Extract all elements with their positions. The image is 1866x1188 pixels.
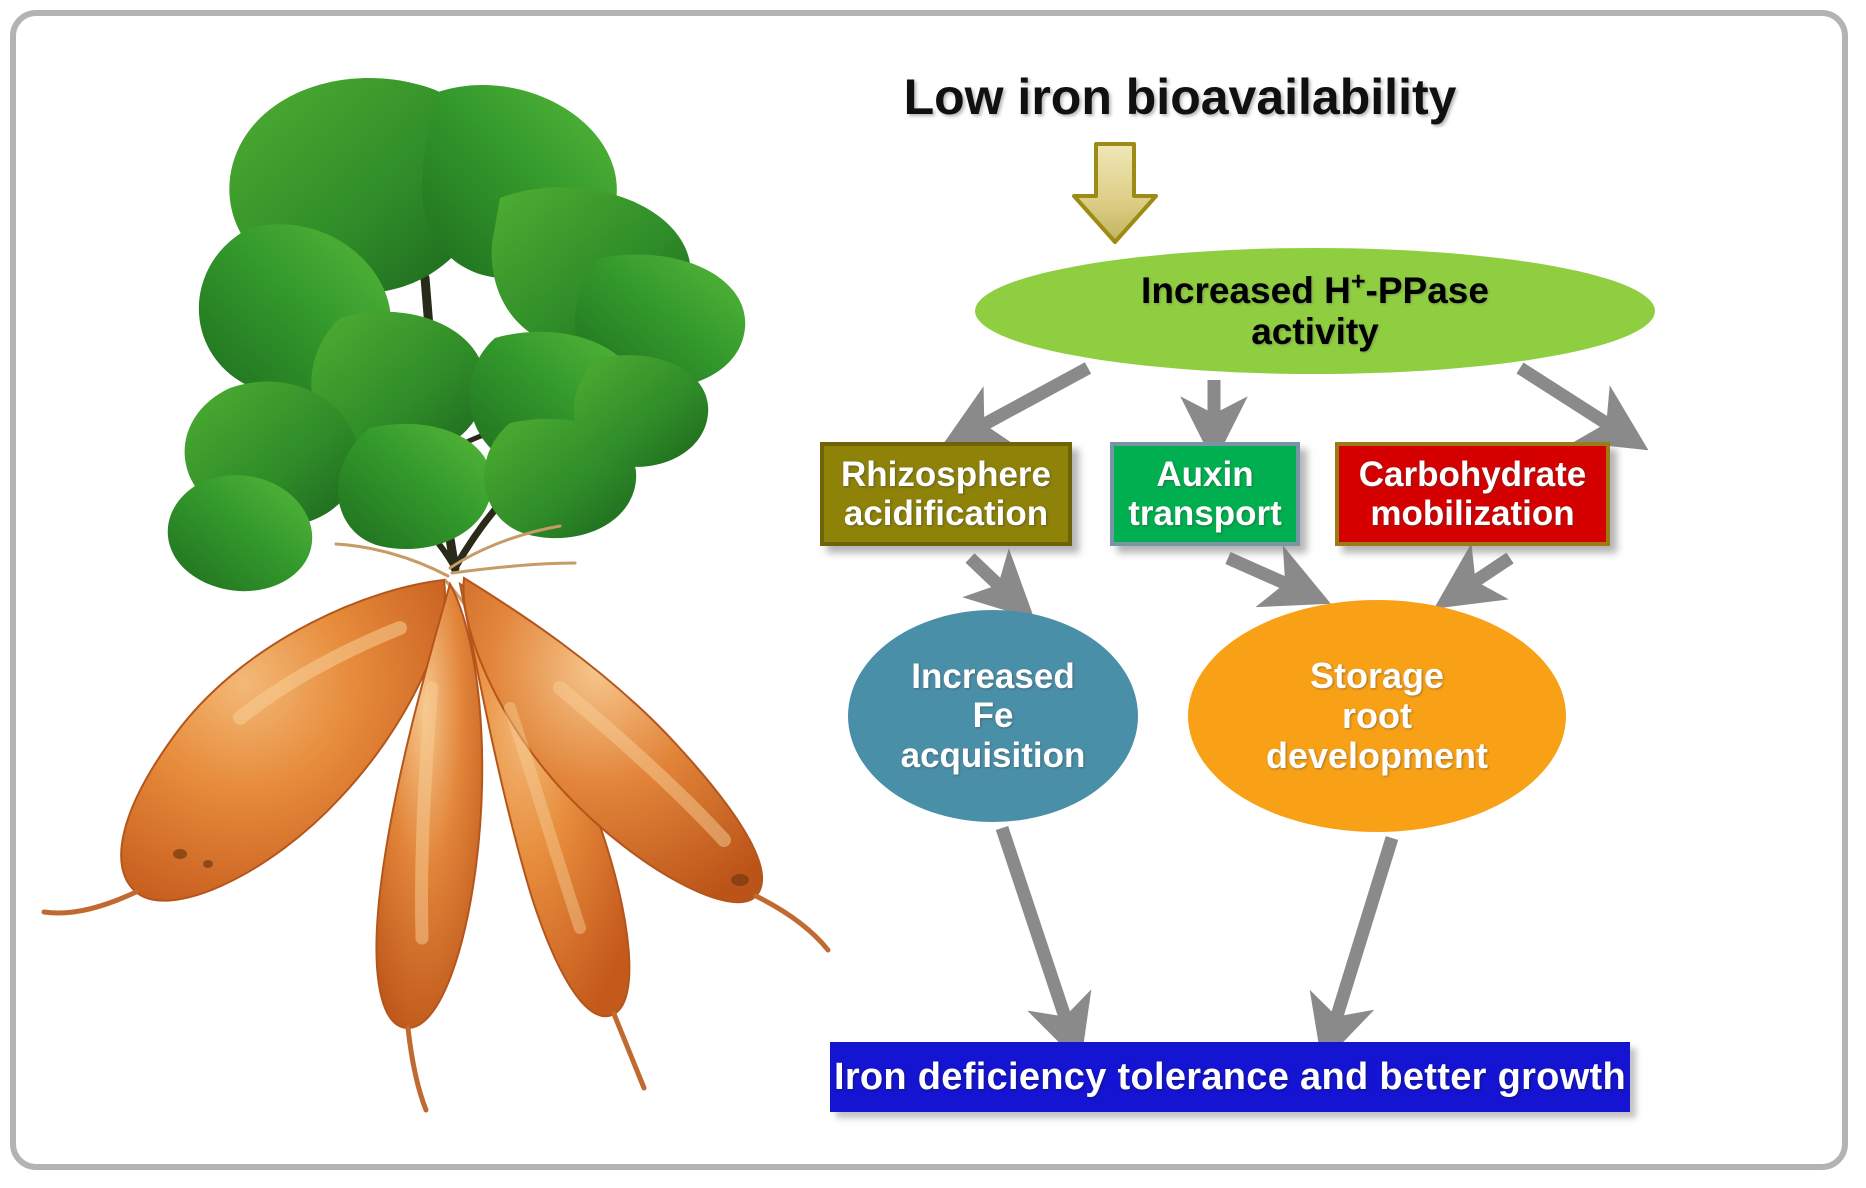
downward-block-arrow	[1060, 138, 1170, 248]
banner-final-outcome[interactable]: Iron deficiency tolerance and better gro…	[830, 1042, 1630, 1112]
carbohydrate-line-1: Carbohydrate	[1359, 455, 1587, 494]
figure-root: Low iron bioavailability Increased H+-PP…	[0, 0, 1866, 1188]
sweet-potato-photo	[40, 28, 860, 1138]
box-auxin-transport[interactable]: Auxin transport	[1110, 442, 1300, 546]
fe-line-3: acquisition	[901, 736, 1086, 775]
auxin-line-1: Auxin	[1128, 455, 1282, 494]
box-carbohydrate-mobilization[interactable]: Carbohydrate mobilization	[1335, 442, 1610, 546]
hppase-line-2: activity	[1141, 311, 1489, 352]
carbohydrate-line-2: mobilization	[1359, 494, 1587, 533]
connector-arrows	[820, 20, 1850, 1170]
fe-line-1: Increased	[901, 657, 1086, 696]
fe-line-2: Fe	[901, 696, 1086, 735]
pathway-diagram: Low iron bioavailability Increased H+-PP…	[820, 20, 1850, 1170]
node-increased-fe-acquisition[interactable]: Increased Fe acquisition	[848, 610, 1138, 822]
auxin-line-2: transport	[1128, 494, 1282, 533]
node-storage-root-development[interactable]: Storage root development	[1188, 600, 1566, 832]
rhizosphere-line-1: Rhizosphere	[841, 455, 1051, 494]
plant-leaves	[168, 78, 746, 591]
hppase-line-1: Increased H+-PPase	[1141, 270, 1489, 311]
storage-root-tubers	[44, 578, 828, 1110]
storage-line-2: root	[1266, 696, 1488, 736]
box-rhizosphere-acidification[interactable]: Rhizosphere acidification	[820, 442, 1072, 546]
rhizosphere-line-2: acidification	[841, 494, 1051, 533]
node-hppase-activity[interactable]: Increased H+-PPase activity	[975, 248, 1655, 374]
storage-line-1: Storage	[1266, 656, 1488, 696]
diagram-title: Low iron bioavailability	[820, 68, 1540, 126]
storage-line-3: development	[1266, 736, 1488, 776]
